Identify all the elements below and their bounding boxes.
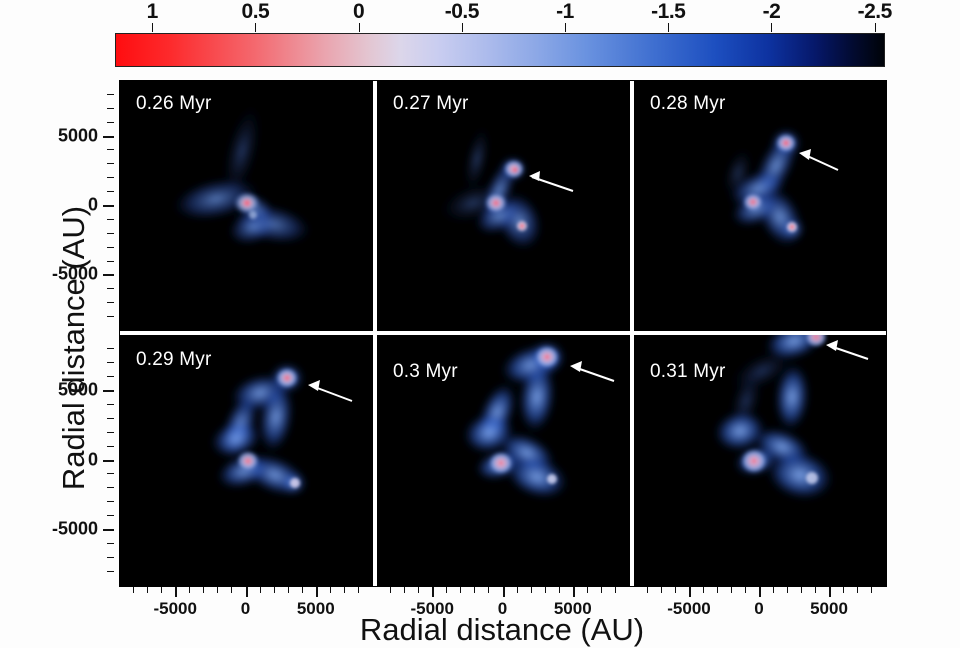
y-axis-minor-tick [107,376,114,377]
panel-divider-horizontal [120,331,886,335]
panel-label: 0.3 Myr [393,361,458,383]
panel-label: 0.31 Myr [650,361,726,383]
x-axis-minor-tick [871,587,872,593]
panel-image-026 [120,81,373,331]
y-axis-minor-tick [107,362,114,363]
y-axis-minor-tick [107,418,114,419]
x-axis-major-tick [246,587,248,597]
panel-label: 0.28 Myr [650,93,726,115]
panel-label: 0.26 Myr [136,93,212,115]
fragment-arrow [826,340,868,359]
panel-028: 0.28 Myr [634,81,886,331]
panel-029: 0.29 Myr [120,335,373,586]
x-axis-major-tick [175,587,177,597]
x-axis-minor-tick [661,587,662,593]
colorbar-tick-label: 0 [353,0,364,24]
panel-image-027 [377,81,630,331]
x-axis-minor-tick [390,587,391,593]
x-axis-minor-tick [731,587,732,593]
y-axis-title: Radial distance (AU) [56,88,92,608]
colorbar-tick-label: -2.5 [858,0,892,24]
colorbar: 10.50-0.5-1-1.5-2-2.5 [115,33,885,67]
x-axis-major-tick [759,587,761,597]
y-axis-minor-tick [107,191,114,192]
y-axis-minor-tick [107,557,114,558]
x-axis-minor-tick [843,587,844,593]
x-axis-title: Radial distance (AU) [119,612,885,648]
colorbar-tick [152,23,153,32]
x-axis-minor-tick [231,587,232,593]
x-axis-minor-tick [418,587,419,593]
panel-030: 0.3 Myr [377,335,630,586]
y-axis-minor-tick [107,247,114,248]
x-axis-minor-tick [217,587,218,593]
y-axis-minor-tick [107,348,114,349]
x-axis-minor-tick [302,587,303,593]
y-axis-major-tick [103,205,114,207]
x-axis-minor-tick [587,587,588,593]
x-axis-minor-tick [601,587,602,593]
panel-image-029 [120,335,373,586]
x-axis-minor-tick [330,587,331,593]
y-axis-major-tick [103,274,114,276]
colorbar-tick-label: 0.5 [242,0,270,24]
y-axis-minor-tick [107,219,114,220]
x-axis-minor-tick [615,587,616,593]
y-axis-minor-tick [107,487,114,488]
x-axis-minor-tick [344,587,345,593]
panel-031: 0.31 Myr [634,335,886,586]
panel-027: 0.27 Myr [377,81,630,331]
colorbar-gradient [115,33,885,67]
x-axis-minor-tick [517,587,518,593]
x-axis-major-tick [573,587,575,597]
y-axis-minor-tick [107,302,114,303]
x-axis-minor-tick [404,587,405,593]
x-axis-major-tick [316,587,318,597]
x-axis-minor-tick [147,587,148,593]
x-axis-minor-tick [161,587,162,593]
y-axis-minor-tick [107,94,114,95]
colorbar-tick [255,23,256,32]
x-axis-minor-tick [133,587,134,593]
fragment-arrow [529,171,573,191]
x-axis-minor-tick [647,587,648,593]
colorbar-tick-label: -0.5 [445,0,479,24]
panel-image-028 [634,81,886,331]
fragment-arrow [799,149,838,170]
colorbar-tick-label: 1 [147,0,158,24]
colorbar-tick-label: -1 [556,0,574,24]
x-axis-minor-tick [787,587,788,593]
y-axis-minor-tick [107,316,114,317]
x-axis-minor-tick [446,587,447,593]
y-axis-major-tick [103,529,114,531]
plot-area: 0.26 Myr [119,80,887,587]
panel-026: 0.26 Myr [120,81,373,331]
y-axis-major-tick [103,136,114,138]
x-axis-minor-tick [745,587,746,593]
y-axis-minor-tick [107,432,114,433]
y-axis-minor-tick [107,177,114,178]
x-axis-minor-tick [815,587,816,593]
x-axis-minor-tick [559,587,560,593]
x-axis-minor-tick [203,587,204,593]
colorbar-tick [875,23,876,32]
x-axis-major-tick [689,587,691,597]
y-axis-minor-tick [107,122,114,123]
y-axis-minor-tick [107,288,114,289]
y-axis-minor-tick [107,261,114,262]
figure-root: 10.50-0.5-1-1.5-2-2.5 0.26 Myr [0,0,960,648]
x-axis-minor-tick [675,587,676,593]
y-axis-minor-tick [107,108,114,109]
y-axis-minor-tick [107,543,114,544]
x-axis-minor-tick [717,587,718,593]
x-axis-minor-tick [358,587,359,593]
x-axis-minor-tick [460,587,461,593]
y-axis-major-tick [103,390,114,392]
y-axis-minor-tick [107,473,114,474]
x-axis-minor-tick [274,587,275,593]
colorbar-tick-label: -2 [763,0,781,24]
x-axis-major-tick [432,587,434,597]
y-axis-minor-tick [107,163,114,164]
y-axis-minor-tick [107,571,114,572]
colorbar-tick [462,23,463,32]
y-axis-minor-tick [107,515,114,516]
x-axis-minor-tick [189,587,190,593]
x-axis-minor-tick [857,587,858,593]
y-axis-minor-tick [107,149,114,150]
x-axis-minor-tick [474,587,475,593]
x-axis-minor-tick [773,587,774,593]
y-axis-minor-tick [107,233,114,234]
colorbar-tick [771,23,772,32]
colorbar-tick [565,23,566,32]
colorbar-tick [668,23,669,32]
colorbar-tick-label: -1.5 [651,0,685,24]
x-axis-minor-tick [288,587,289,593]
x-axis-major-tick [503,587,505,597]
y-axis-minor-tick [107,501,114,502]
y-axis-minor-tick [107,446,114,447]
panel-label: 0.29 Myr [136,349,212,371]
panel-label: 0.27 Myr [393,93,469,115]
x-axis-minor-tick [488,587,489,593]
fragment-arrow [308,380,352,401]
x-axis-minor-tick [545,587,546,593]
x-axis-major-tick [829,587,831,597]
x-axis-minor-tick [260,587,261,593]
colorbar-tick [359,23,360,32]
x-axis-minor-tick [703,587,704,593]
fragment-arrow [570,361,614,381]
y-axis-minor-tick [107,404,114,405]
x-axis-minor-tick [531,587,532,593]
y-axis-major-tick [103,460,114,462]
x-axis-minor-tick [801,587,802,593]
